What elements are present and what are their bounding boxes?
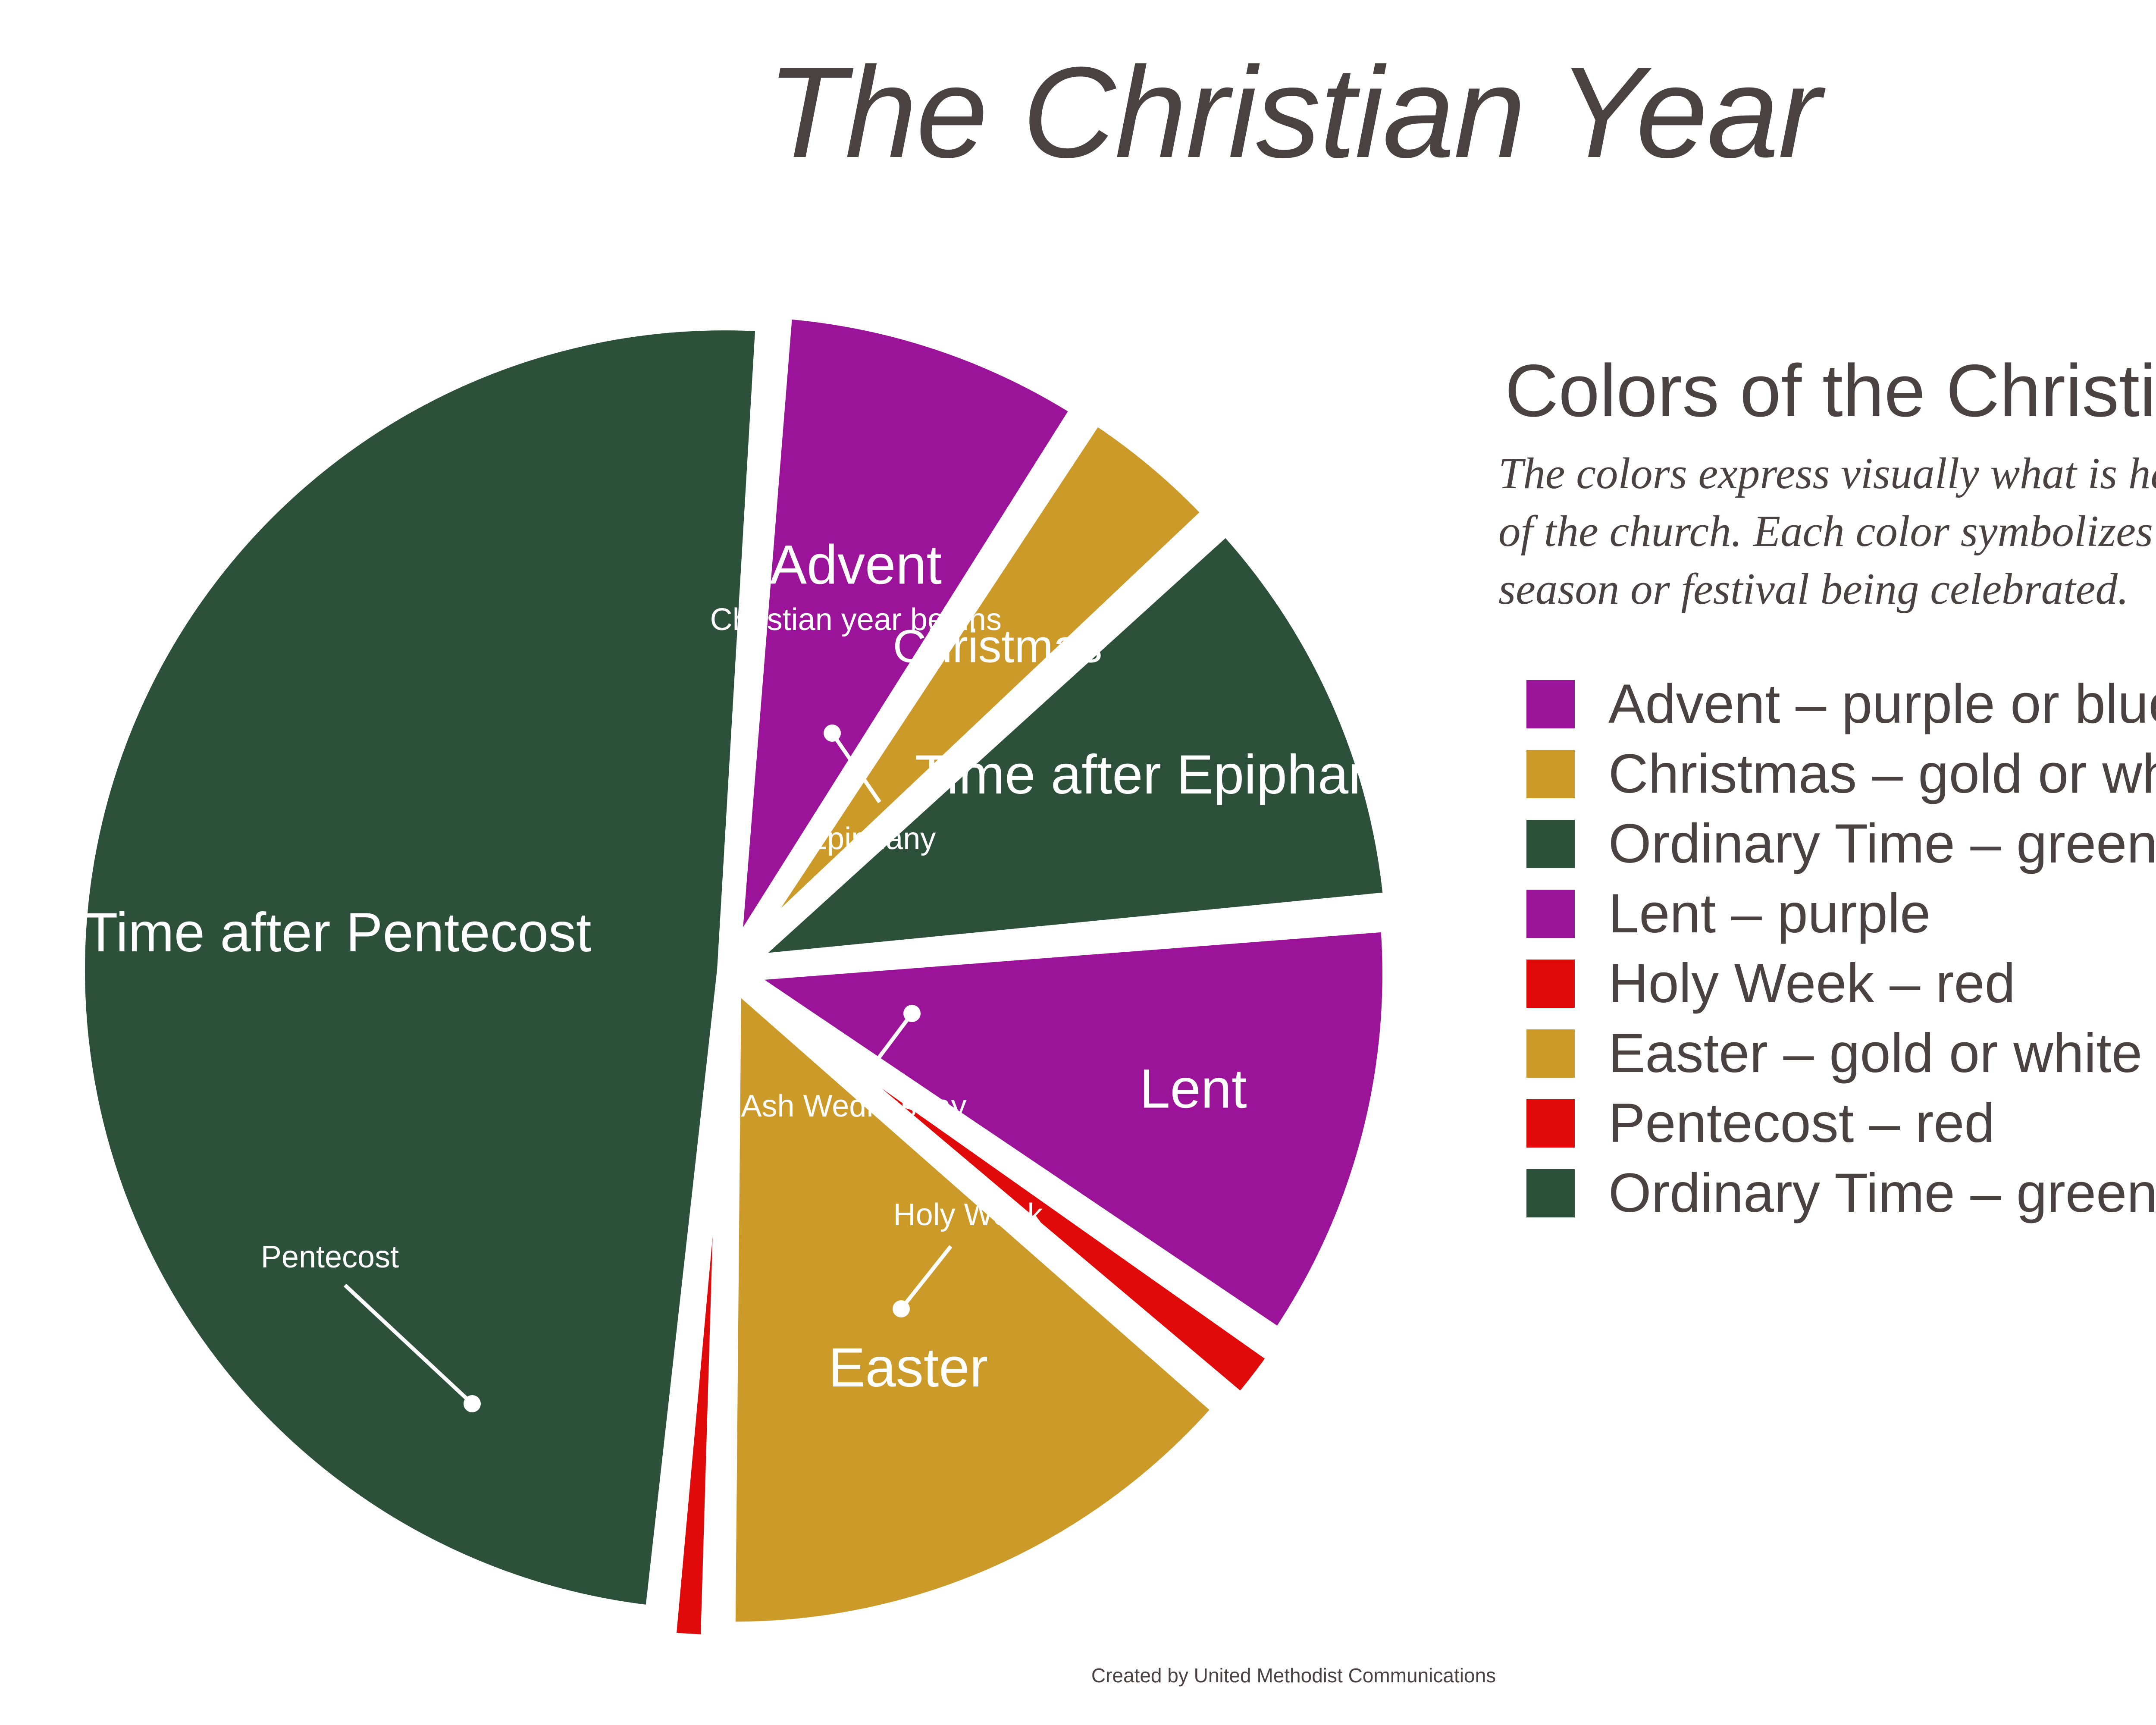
pie-chart-svg: AdventChristian year beginsChristmasTime…	[0, 241, 1552, 1708]
callout-label-holy-week: Holy Week	[893, 1198, 1044, 1232]
legend-item-label: Holy Week – red	[1608, 956, 2015, 1011]
callout-label-ash-wednesday: Ash Wednesday	[741, 1089, 967, 1123]
pie-slice-label-time-after-epiphany: Time after Epiphany	[915, 744, 1407, 806]
legend-color-swatch	[1526, 820, 1575, 868]
legend-item-label: Christmas – gold or white	[1608, 746, 2156, 802]
callout-dot-holy-week	[893, 1300, 910, 1317]
pie-slice-time-after-pentecost[interactable]	[78, 323, 763, 1613]
legend-item[interactable]: Advent – purple or blue	[1526, 670, 2156, 738]
legend-description: The colors express visually what is happ…	[1498, 445, 2156, 618]
legend-item[interactable]: Ordinary Time – green	[1526, 1159, 2156, 1227]
legend-item[interactable]: Pentecost – red	[1526, 1089, 2156, 1157]
page-title: The Christian Year	[0, 47, 2156, 177]
legend-item[interactable]: Lent – purple	[1526, 880, 2156, 948]
infographic-page: The Christian Year AdventChristian year …	[0, 0, 2156, 1725]
legend-item[interactable]: Christmas – gold or white	[1526, 740, 2156, 808]
legend-item-label: Ordinary Time – green	[1608, 816, 2156, 872]
legend-panel: Colors of the Christian Year The colors …	[1479, 354, 2156, 1229]
legend-item-label: Pentecost – red	[1608, 1096, 1995, 1151]
legend-item-label: Ordinary Time – green	[1608, 1166, 2156, 1221]
pie-slice-label-easter: Easter	[828, 1337, 988, 1399]
callout-label-pentecost: Pentecost	[261, 1240, 399, 1274]
pie-chart: AdventChristian year beginsChristmasTime…	[0, 241, 1552, 1708]
legend-item-label: Advent – purple or blue	[1608, 677, 2156, 732]
pie-wedges	[78, 312, 1391, 1642]
legend-item-label: Lent – purple	[1608, 886, 1930, 941]
pie-slice-label-time-after-pentecost: Time after Pentecost	[84, 902, 591, 963]
callout-dot-pentecost	[464, 1395, 481, 1412]
legend-item[interactable]: Easter – gold or white	[1526, 1019, 2156, 1088]
legend-list: Advent – purple or blueChristmas – gold …	[1526, 670, 2156, 1227]
legend-color-swatch	[1526, 1169, 1575, 1217]
pie-slice-label-christmas: Christmas	[893, 620, 1102, 672]
pie-slice-label-lent: Lent	[1139, 1058, 1247, 1120]
footer-credit: Created by United Methodist Communicatio…	[0, 1664, 2156, 1687]
legend-color-swatch	[1526, 680, 1575, 728]
legend-color-swatch	[1526, 750, 1575, 798]
callout-label-epiphany: Epiphany	[806, 822, 936, 856]
legend-color-swatch	[1526, 1099, 1575, 1148]
legend-item[interactable]: Holy Week – red	[1526, 950, 2156, 1018]
legend-heading: Colors of the Christian Year	[1505, 354, 2156, 428]
legend-item-label: Easter – gold or white	[1608, 1026, 2142, 1081]
legend-color-swatch	[1526, 1029, 1575, 1078]
pie-slice-label-advent: Advent	[770, 534, 942, 596]
legend-color-swatch	[1526, 960, 1575, 1008]
legend-color-swatch	[1526, 890, 1575, 938]
legend-item[interactable]: Ordinary Time – green	[1526, 810, 2156, 878]
callout-dot-epiphany	[824, 724, 841, 742]
callout-dot-ash-wednesday	[903, 1005, 921, 1022]
